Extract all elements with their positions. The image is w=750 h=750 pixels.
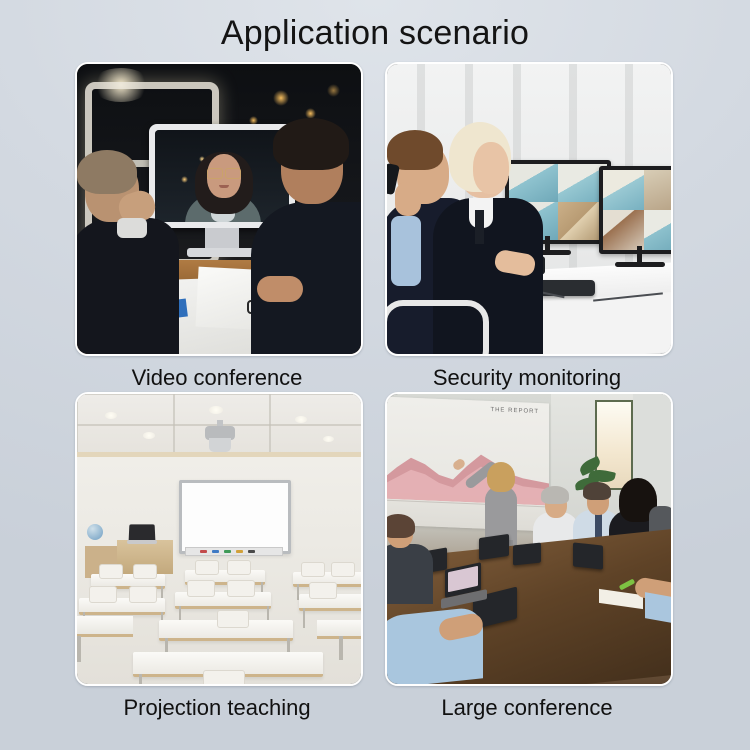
- projected-slide: THE REPORT: [387, 397, 549, 532]
- ceiling-tile: [269, 394, 361, 426]
- student-chair: [301, 562, 325, 577]
- projector-body: [209, 438, 231, 452]
- desk-leg: [139, 674, 142, 684]
- wall-trim: [77, 452, 361, 457]
- attendee-foreground: [387, 514, 433, 594]
- scene-video-conference: [77, 64, 361, 354]
- cctv-monitor-right: [599, 166, 671, 254]
- attendee-left-body: [77, 218, 179, 354]
- laptop: [573, 542, 603, 569]
- attendee-right: [251, 118, 361, 354]
- student-desk: [77, 616, 133, 637]
- student-chair: [217, 610, 249, 628]
- marker-tray: [185, 547, 283, 556]
- scenario-caption: Security monitoring: [385, 364, 669, 392]
- marker-green: [224, 550, 231, 553]
- monitor-neck: [205, 228, 239, 250]
- teacher-laptop-base: [127, 540, 157, 544]
- scenario-caption: Projection teaching: [75, 694, 359, 722]
- globe: [87, 524, 103, 540]
- scenario-caption: Large conference: [385, 694, 669, 722]
- ceiling-light: [143, 432, 155, 439]
- student-chair: [195, 560, 219, 575]
- slide-title: THE REPORT: [490, 407, 539, 415]
- desk-leg: [77, 636, 81, 662]
- operator-man-hand: [395, 182, 421, 216]
- student-chair: [129, 586, 157, 603]
- attendee-right-hair: [273, 118, 349, 170]
- scenario-caption: Video conference: [75, 364, 359, 392]
- scenario-card-large-conference[interactable]: THE REPORT: [385, 392, 669, 722]
- remote-participant-smile: [219, 185, 229, 188]
- whiteboard: [179, 480, 291, 554]
- scenario-image-large-conference: THE REPORT: [385, 392, 673, 686]
- student-chair: [187, 580, 215, 597]
- area-chart-icon: [387, 433, 549, 506]
- ceiling-tile: [77, 394, 175, 426]
- presenter-hair: [487, 462, 515, 492]
- attendee-left-cuff: [117, 218, 147, 238]
- slide-chart: [387, 433, 549, 506]
- monitor-base: [615, 262, 665, 267]
- student-chair: [133, 564, 157, 579]
- attendee-hair: [583, 482, 611, 500]
- attendee-hair: [387, 514, 415, 538]
- ceiling-light: [295, 416, 307, 423]
- scene-projection-teaching: [77, 394, 361, 684]
- desk-leg: [339, 636, 343, 660]
- scenario-card-security-monitoring[interactable]: Security monitoring: [385, 62, 669, 392]
- bokeh-light: [273, 90, 289, 106]
- operator-man-shirt: [391, 216, 421, 286]
- scenario-image-projection-teaching: [75, 392, 363, 686]
- operator-woman-face: [473, 142, 509, 194]
- page-title: Application scenario: [0, 14, 750, 53]
- camera-feed: [603, 210, 644, 250]
- student-chair: [227, 560, 251, 575]
- attendee-left: [77, 148, 185, 354]
- ceiling-light: [105, 412, 117, 419]
- attendee-hair: [541, 486, 569, 504]
- student-chair: [203, 670, 245, 684]
- scene-security-monitoring: [387, 64, 671, 354]
- camera-feed: [644, 210, 671, 250]
- scenario-card-projection-teaching[interactable]: Projection teaching: [75, 392, 359, 722]
- laptop-screen: [448, 566, 478, 592]
- scenario-image-video-conference: [75, 62, 363, 356]
- marker-blue: [212, 550, 219, 553]
- scene-large-conference: THE REPORT: [387, 394, 671, 684]
- desk-leg: [303, 608, 305, 628]
- marker-red: [200, 550, 207, 553]
- ceiling-light: [323, 436, 334, 442]
- teacher-laptop: [129, 524, 156, 541]
- student-chair: [99, 564, 123, 579]
- marker-black: [248, 550, 255, 553]
- scenario-image-security-monitoring: [385, 62, 673, 356]
- attendee-foreground: [635, 580, 671, 620]
- marker-yellow: [236, 550, 243, 553]
- presenter: [479, 452, 521, 546]
- student-chair: [331, 562, 355, 577]
- scenario-grid: Video conference: [75, 62, 675, 737]
- application-scenario-page: Application scenario: [0, 0, 750, 750]
- laptop: [479, 534, 509, 560]
- operator-woman-tie: [475, 210, 484, 244]
- monitor-base: [187, 248, 259, 257]
- remote-participant-glasses: [207, 168, 241, 177]
- bokeh-light: [327, 84, 340, 97]
- attendee-left-hair: [77, 150, 137, 194]
- office-chair: [387, 300, 489, 354]
- student-chair: [227, 580, 255, 597]
- ceiling-light: [209, 406, 223, 414]
- laptop: [513, 543, 541, 566]
- camera-feed: [603, 170, 644, 210]
- attendee-right-hand: [257, 276, 303, 302]
- scenario-card-video-conference[interactable]: Video conference: [75, 62, 359, 392]
- student-chair: [309, 582, 337, 599]
- attendee-foreground: [387, 590, 493, 684]
- camera-feed: [644, 170, 671, 210]
- student-chair: [89, 586, 117, 603]
